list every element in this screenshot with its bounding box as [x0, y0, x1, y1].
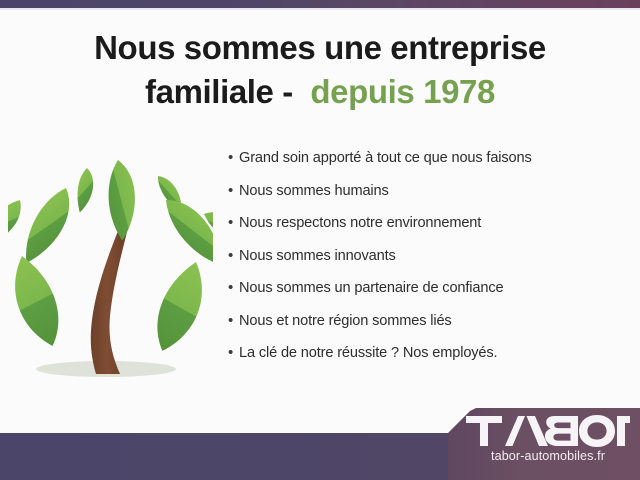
brand-logo[interactable]: tabor-automobiles.fr [466, 414, 630, 463]
tree-trunk-icon [91, 226, 128, 374]
headline-line-1: Nous sommes une entreprise [30, 26, 610, 70]
logo-tagline: tabor-automobiles.fr [466, 449, 630, 463]
tabor-wordmark-icon [466, 414, 630, 448]
tree-leaf-icon [105, 160, 137, 242]
list-item-label: Nous sommes humains [239, 181, 628, 201]
bullet-marker-icon: • [228, 343, 239, 363]
tree-leaf-icon [8, 256, 80, 346]
headline-line-2-main: familiale - [145, 73, 293, 110]
list-item: • La clé de notre réussite ? Nos employé… [228, 343, 628, 363]
list-item-label: Nous sommes innovants [239, 246, 628, 266]
bullet-marker-icon: • [228, 311, 239, 331]
tree-leaf-icon [68, 167, 100, 214]
family-tree-illustration [8, 148, 213, 393]
list-item: • Nous sommes un partenaire de confiance [228, 278, 628, 298]
values-bullet-list: • Grand soin apporté à tout ce que nous … [228, 148, 628, 376]
list-item-label: Grand soin apporté à tout ce que nous fa… [239, 148, 628, 168]
bullet-marker-icon: • [228, 278, 239, 298]
list-item-label: Nous respectons notre environnement [239, 213, 628, 233]
footer-bar-left [0, 433, 460, 480]
bullet-marker-icon: • [228, 246, 239, 266]
tree-leaf-icon [159, 188, 213, 275]
list-item-label: Nous et notre région sommes liés [239, 311, 628, 331]
slide-canvas: Nous sommes une entreprise familiale - d… [0, 0, 640, 480]
top-accent-hairline [0, 8, 640, 10]
bullet-marker-icon: • [228, 213, 239, 233]
list-item: • Grand soin apporté à tout ce que nous … [228, 148, 628, 168]
list-item: • Nous et notre région sommes liés [228, 311, 628, 331]
top-accent-bar [0, 0, 640, 8]
list-item-label: Nous sommes un partenaire de confiance [239, 278, 628, 298]
bullet-marker-icon: • [228, 181, 239, 201]
list-item-label: La clé de notre réussite ? Nos employés. [239, 343, 628, 363]
tree-leaf-icon [138, 262, 213, 351]
list-item: • Nous respectons notre environnement [228, 213, 628, 233]
list-item: • Nous sommes humains [228, 181, 628, 201]
tree-leaf-icon [11, 184, 84, 269]
page-title: Nous sommes une entreprise familiale - d… [30, 26, 610, 113]
list-item: • Nous sommes innovants [228, 246, 628, 266]
headline-line-2: familiale - depuis 1978 [30, 70, 610, 114]
headline-accent-year: depuis 1978 [310, 73, 495, 110]
bullet-marker-icon: • [228, 148, 239, 168]
